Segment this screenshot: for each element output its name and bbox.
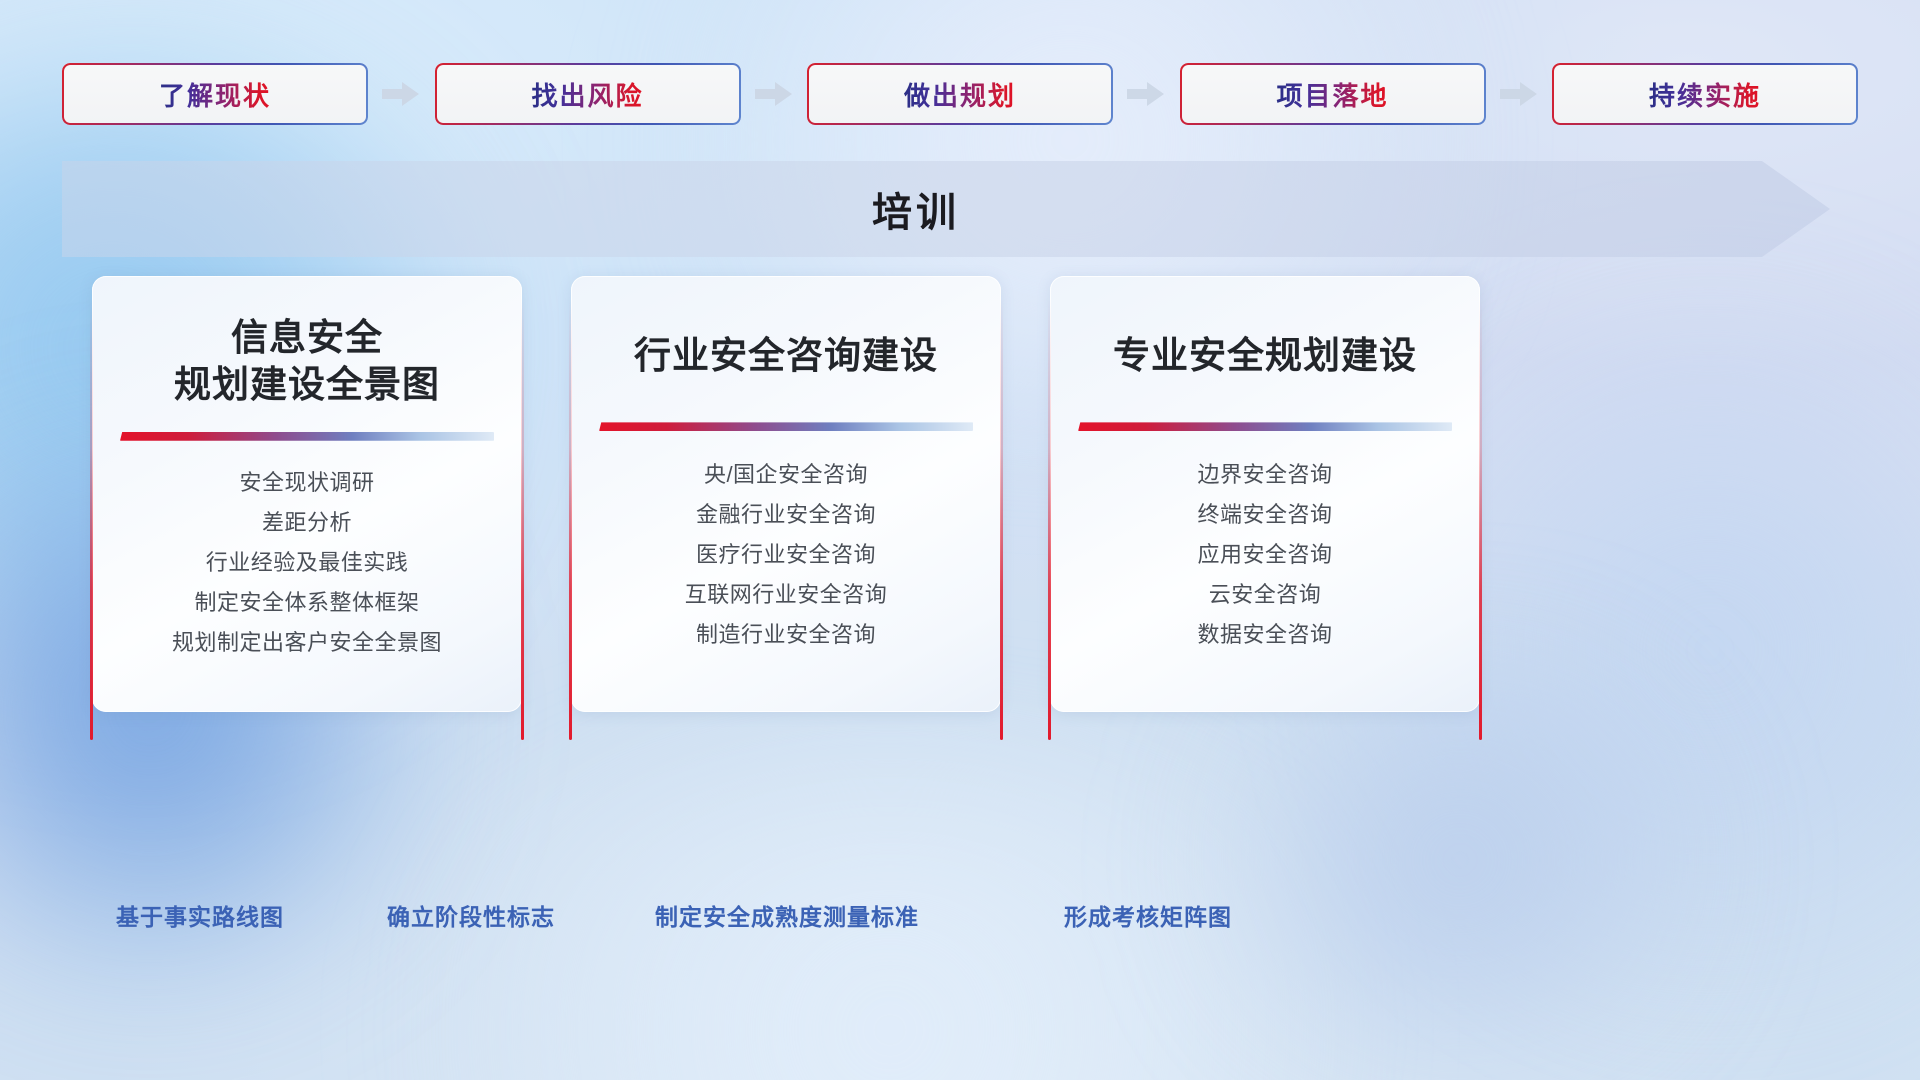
list-item: 云安全咨询 [1050, 575, 1480, 615]
banner-title: 培训 [62, 161, 1770, 257]
list-item: 数据安全咨询 [1050, 615, 1480, 655]
process-step-2-label: 找出风险 [531, 76, 643, 113]
process-step-row: 了解现状 找出风险 做出规划 项目落地 持续实施 [62, 63, 1858, 125]
list-item: 制定安全体系整体框架 [92, 583, 522, 623]
footer-label-1: 基于事实路线图 [116, 898, 284, 932]
list-item: 差距分析 [92, 503, 522, 543]
card-title: 专业安全规划建设 [1050, 276, 1480, 379]
slide-content: 了解现状 找出风险 做出规划 项目落地 持续实施 [0, 0, 1920, 1080]
arrow-right-icon [382, 81, 420, 107]
process-step-3-label: 做出规划 [904, 76, 1016, 113]
list-item: 医疗行业安全咨询 [571, 535, 1001, 575]
card-divider [599, 422, 973, 431]
process-step-5[interactable]: 持续实施 [1552, 63, 1858, 125]
list-item: 互联网行业安全咨询 [571, 575, 1001, 615]
card-information-security-blueprint[interactable]: 信息安全 规划建设全景图 安全现状调研 差距分析 行业经验及最佳实践 制定安全体… [92, 276, 522, 712]
list-item: 终端安全咨询 [1050, 495, 1480, 535]
list-item: 金融行业安全咨询 [571, 495, 1001, 535]
footer-label-2: 确立阶段性标志 [387, 898, 555, 932]
card-industry-security-consulting[interactable]: 行业安全咨询建设 央/国企安全咨询 金融行业安全咨询 医疗行业安全咨询 互联网行… [571, 276, 1001, 712]
card-row: 信息安全 规划建设全景图 安全现状调研 差距分析 行业经验及最佳实践 制定安全体… [92, 276, 1534, 712]
card-divider [120, 432, 494, 441]
arrow-right-icon [755, 81, 793, 107]
card-professional-security-planning[interactable]: 专业安全规划建设 边界安全咨询 终端安全咨询 应用安全咨询 云安全咨询 数据安全… [1050, 276, 1480, 712]
list-item: 应用安全咨询 [1050, 535, 1480, 575]
process-step-1[interactable]: 了解现状 [62, 63, 368, 125]
card-title: 行业安全咨询建设 [571, 276, 1001, 379]
list-item: 行业经验及最佳实践 [92, 543, 522, 583]
footer-label-3: 制定安全成熟度测量标准 [655, 898, 919, 932]
process-step-5-label: 持续实施 [1649, 76, 1761, 113]
footer-label-row: 基于事实路线图 确立阶段性标志 制定安全成熟度测量标准 形成考核矩阵图 [0, 898, 1920, 938]
card-item-list: 安全现状调研 差距分析 行业经验及最佳实践 制定安全体系整体框架 规划制定出客户… [92, 463, 522, 663]
process-step-3[interactable]: 做出规划 [807, 63, 1113, 125]
card-divider [1078, 422, 1452, 431]
process-step-1-label: 了解现状 [159, 76, 271, 113]
process-step-2[interactable]: 找出风险 [435, 63, 741, 125]
list-item: 央/国企安全咨询 [571, 455, 1001, 495]
process-step-4-label: 项目落地 [1276, 76, 1388, 113]
list-item: 规划制定出客户安全全景图 [92, 623, 522, 663]
arrow-right-icon [1127, 81, 1165, 107]
footer-label-4: 形成考核矩阵图 [1064, 898, 1232, 932]
card-item-list: 央/国企安全咨询 金融行业安全咨询 医疗行业安全咨询 互联网行业安全咨询 制造行… [571, 455, 1001, 655]
list-item: 边界安全咨询 [1050, 455, 1480, 495]
arrow-right-icon [1500, 81, 1538, 107]
list-item: 安全现状调研 [92, 463, 522, 503]
card-item-list: 边界安全咨询 终端安全咨询 应用安全咨询 云安全咨询 数据安全咨询 [1050, 455, 1480, 655]
training-banner: 培训 [62, 161, 1830, 257]
list-item: 制造行业安全咨询 [571, 615, 1001, 655]
card-title: 信息安全 规划建设全景图 [92, 276, 522, 409]
process-step-4[interactable]: 项目落地 [1180, 63, 1486, 125]
